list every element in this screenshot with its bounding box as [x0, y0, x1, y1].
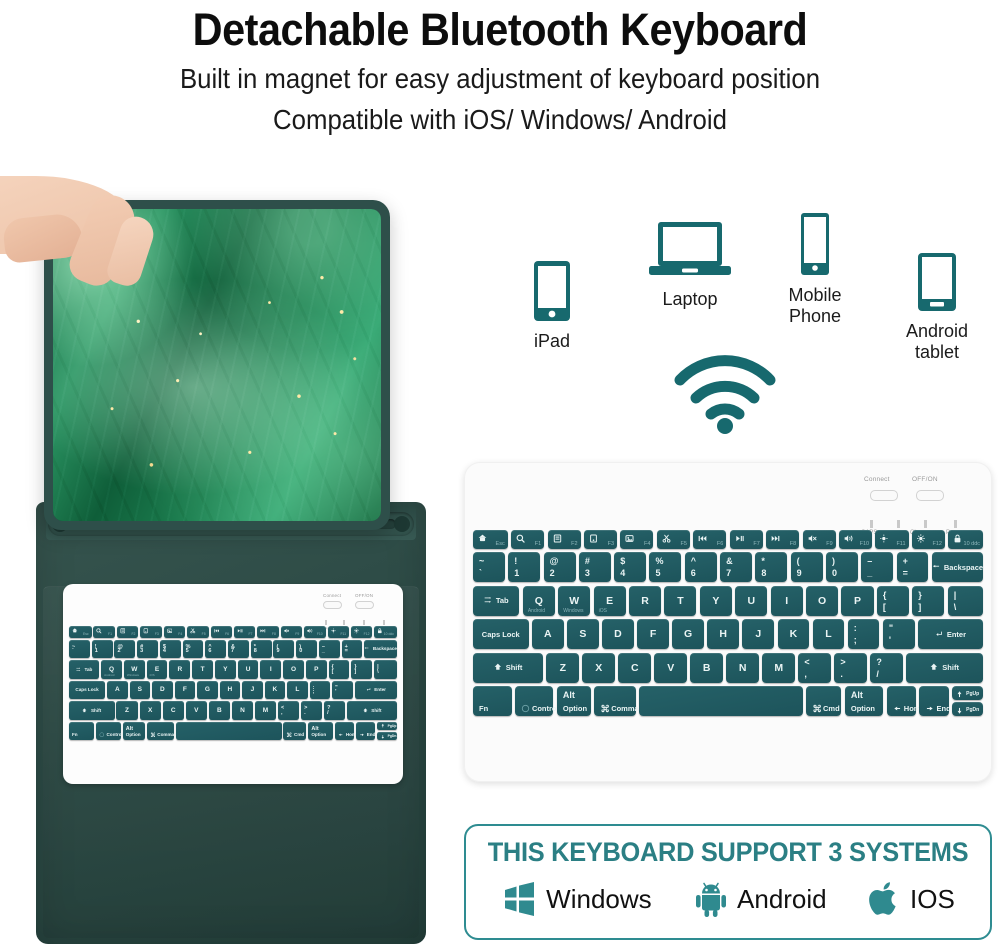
key-inner: Caps Lock: [482, 630, 520, 639]
key-c[interactable]: C: [618, 653, 651, 683]
key-control[interactable]: Control: [96, 722, 121, 741]
command-icon: [812, 704, 821, 713]
key-f10[interactable]: F10: [304, 626, 326, 638]
key-bottom: Cmd: [812, 704, 840, 713]
key-0[interactable]: )0: [296, 640, 317, 659]
key-lower: 3: [585, 568, 590, 578]
key-upper: @: [550, 556, 559, 566]
key-2[interactable]: @2: [544, 552, 576, 582]
key-bottom: Option: [126, 732, 141, 737]
fn-label: F5: [202, 632, 206, 636]
key-f6[interactable]: F6: [211, 626, 233, 638]
key-letter: H: [228, 686, 233, 693]
key-pgdn[interactable]: PgDn: [952, 702, 983, 716]
key-word: Control: [532, 704, 559, 713]
key-tab[interactable]: Tab: [473, 586, 519, 616]
key-o[interactable]: O: [283, 660, 304, 679]
key-inner: Shift: [363, 708, 382, 714]
command-icon: [286, 732, 292, 738]
tab-icon: [76, 667, 82, 673]
power-switch[interactable]: [916, 490, 944, 501]
key-pgup[interactable]: PgUp: [377, 722, 397, 730]
key-pgup[interactable]: PgUp: [952, 686, 983, 700]
key-sublabel: Windows: [127, 673, 139, 677]
kb-small-connect-label: Connect: [323, 593, 341, 598]
key-3[interactable]: #3: [579, 552, 611, 582]
key-letter: F: [183, 686, 187, 693]
key-h[interactable]: H: [220, 681, 241, 700]
key-lower: 4: [620, 568, 625, 578]
key-word: Option: [563, 704, 587, 713]
subtitle-line-2: Compatible with iOS/ Windows/ Android: [40, 99, 960, 140]
key-word: Enter: [947, 630, 966, 639]
system-label-android: Android: [737, 884, 827, 915]
systems-list: Windows Android: [480, 880, 976, 918]
key-option[interactable]: AltOption: [123, 722, 145, 741]
key-upper: <: [804, 657, 809, 667]
key-backtick[interactable]: ~`: [69, 640, 90, 659]
key-backspace[interactable]: Backspace: [932, 552, 983, 582]
key-f11[interactable]: F11: [328, 626, 350, 638]
key-upper: #: [585, 556, 590, 566]
key-f4[interactable]: F4: [164, 626, 186, 638]
key-u[interactable]: U: [238, 660, 259, 679]
key-f12[interactable]: F12: [351, 626, 373, 638]
key-a[interactable]: A: [107, 681, 128, 700]
key-letter: F: [650, 628, 656, 640]
key-lower: 8: [254, 648, 257, 654]
key-upper: ": [889, 623, 893, 633]
key-f6[interactable]: F6: [693, 530, 726, 549]
key-letter: S: [138, 686, 142, 693]
key-f8[interactable]: F8: [257, 626, 279, 638]
hand-holding-tablet: [0, 176, 198, 302]
key-inner: Tab: [76, 667, 92, 673]
key-f3[interactable]: F3: [584, 530, 617, 549]
key-lower: ': [889, 635, 891, 645]
home-icon: [478, 534, 487, 543]
key-1[interactable]: !1: [92, 640, 113, 659]
key-pgdn[interactable]: PgDn: [377, 732, 397, 740]
key-letter: D: [160, 686, 165, 693]
key-k[interactable]: K: [778, 619, 810, 649]
key-upper: !: [514, 556, 517, 566]
led-power: [954, 520, 957, 528]
key-2[interactable]: @2: [114, 640, 135, 659]
key-z[interactable]: Z: [546, 653, 579, 683]
key-caps-lock[interactable]: Caps Lock: [473, 619, 529, 649]
key-10 ddc[interactable]: 10 ddc: [948, 530, 983, 549]
fn-label: F10: [860, 541, 869, 547]
key-upper: +: [903, 556, 908, 566]
key-.[interactable]: >.: [301, 701, 322, 720]
key-bottom: Option: [851, 704, 875, 713]
led-charge: [924, 520, 927, 528]
key-6[interactable]: ^6: [205, 640, 226, 659]
key-5[interactable]: %5: [649, 552, 681, 582]
key-row-bottom: ShiftZXCVBNM<,>.?/Shift: [473, 653, 983, 683]
search-icon: [96, 628, 102, 634]
key-end[interactable]: End: [919, 686, 948, 716]
key-s[interactable]: S: [567, 619, 599, 649]
key-y[interactable]: Y: [215, 660, 236, 679]
key-f1[interactable]: F1: [511, 530, 544, 549]
key-inner: Backspace: [932, 563, 983, 572]
brightness-down-icon: [880, 534, 889, 543]
fn-label: F1: [535, 541, 541, 547]
key-4[interactable]: $4: [160, 640, 181, 659]
key-q[interactable]: QAndroid: [101, 660, 122, 679]
key-word: End: [936, 704, 950, 713]
key-f[interactable]: F: [637, 619, 669, 649]
shift-arrow-icon: [82, 708, 88, 714]
key-letter: P: [314, 666, 318, 673]
key-f7[interactable]: F7: [234, 626, 256, 638]
key-letter: M: [774, 662, 783, 674]
kb-small-connect-button[interactable]: [323, 601, 342, 609]
key-word: Caps Lock: [482, 630, 520, 639]
key-lower: 5: [655, 568, 660, 578]
key-upper: ): [832, 556, 835, 566]
key-7[interactable]: &7: [228, 640, 249, 659]
key-end[interactable]: End: [356, 722, 375, 741]
key-f1[interactable]: F1: [93, 626, 115, 638]
key-inner: Backspace: [364, 646, 397, 652]
key-f[interactable]: F: [175, 681, 196, 700]
key-sublabel: iOS: [150, 673, 155, 677]
key-[[interactable]: {[: [329, 660, 350, 679]
key-lower: _: [322, 648, 325, 654]
key-f4[interactable]: F4: [620, 530, 653, 549]
key-inner: Enter: [935, 630, 966, 639]
key-\[interactable]: |\: [374, 660, 397, 679]
key-u[interactable]: U: [735, 586, 767, 616]
key-inner: Tab: [484, 596, 509, 605]
key-][interactable]: }]: [351, 660, 372, 679]
fn-label: Esc: [496, 541, 505, 547]
key-letter: T: [201, 666, 205, 673]
key-k[interactable]: K: [265, 681, 286, 700]
key-f10[interactable]: F10: [839, 530, 872, 549]
key-upper: Alt: [311, 726, 318, 732]
key-letter: U: [747, 595, 755, 607]
led-charge: [363, 620, 365, 625]
fn-label: F6: [225, 632, 229, 636]
key-6[interactable]: ^6: [685, 552, 717, 582]
key-row-modifier: FnControlAltOptionCommandCmdAltOptionHom…: [69, 722, 397, 741]
key-\[interactable]: |\: [948, 586, 983, 616]
key-shift[interactable]: Shift: [347, 701, 397, 720]
key-r[interactable]: R: [629, 586, 661, 616]
key-upper: $: [620, 556, 625, 566]
key-upper: %: [655, 556, 663, 566]
photo-icon: [625, 534, 634, 543]
key-f8[interactable]: F8: [766, 530, 799, 549]
key-.[interactable]: >.: [834, 653, 867, 683]
key-=[interactable]: +=: [897, 552, 929, 582]
fn-label: F6: [717, 541, 723, 547]
key-upper: ^: [691, 556, 696, 566]
key-v[interactable]: V: [654, 653, 687, 683]
fn-label: F8: [272, 632, 276, 636]
key-upper: Alt: [126, 726, 133, 732]
key-l[interactable]: L: [287, 681, 308, 700]
key-d[interactable]: D: [602, 619, 634, 649]
key-c[interactable]: C: [163, 701, 184, 720]
key-0[interactable]: )0: [826, 552, 858, 582]
key-bottom: Option: [563, 704, 587, 713]
arrow-left-icon: [338, 732, 344, 738]
key-p[interactable]: P: [841, 586, 873, 616]
fn-label: F7: [248, 632, 252, 636]
key-f9[interactable]: F9: [803, 530, 836, 549]
key-t[interactable]: T: [192, 660, 213, 679]
kb-small-controls: Connect OFF/ON: [319, 591, 395, 621]
key-f7[interactable]: F7: [730, 530, 763, 549]
key-word: Shift: [371, 708, 381, 713]
system-android: Android: [694, 881, 827, 917]
key-lower: /: [327, 710, 329, 716]
key-i[interactable]: I: [260, 660, 281, 679]
key-f2[interactable]: F2: [117, 626, 139, 638]
key-j[interactable]: J: [242, 681, 263, 700]
key-'[interactable]: "': [883, 619, 915, 649]
key-e[interactable]: EiOS: [147, 660, 168, 679]
key-w[interactable]: WWindows: [558, 586, 590, 616]
key-g[interactable]: G: [197, 681, 218, 700]
brightness-down-icon: [331, 628, 337, 634]
key-;[interactable]: :;: [310, 681, 331, 700]
key-lower: /: [876, 669, 879, 679]
key-cmd[interactable]: Cmd: [806, 686, 841, 716]
key-fn[interactable]: Fn: [69, 722, 94, 741]
key-y[interactable]: Y: [700, 586, 732, 616]
key-cmd[interactable]: Cmd: [283, 722, 306, 741]
key-shift[interactable]: Shift: [69, 701, 115, 720]
key-esc[interactable]: Esc: [69, 626, 92, 638]
key-upper: Alt: [851, 690, 863, 700]
key-word: Backspace: [944, 563, 983, 572]
key-letter: Z: [560, 662, 566, 674]
key-esc[interactable]: Esc: [473, 530, 508, 549]
key-f3[interactable]: F3: [140, 626, 162, 638]
key-tab[interactable]: Tab: [69, 660, 99, 679]
key-lower: 9: [797, 568, 802, 578]
key-f5[interactable]: F5: [187, 626, 209, 638]
key-control[interactable]: Control: [515, 686, 554, 716]
key-f2[interactable]: F2: [548, 530, 581, 549]
shift-arrow-icon: [930, 663, 939, 672]
key-bottom: End: [359, 732, 375, 738]
key-backspace[interactable]: Backspace: [364, 640, 397, 659]
key-/[interactable]: ?/: [870, 653, 903, 683]
key-fn[interactable]: Fn: [473, 686, 512, 716]
key-lower: .: [840, 669, 843, 679]
fn-label: Esc: [83, 632, 89, 636]
key-lower: 4: [163, 648, 166, 654]
key-o[interactable]: O: [806, 586, 838, 616]
key-word: Shift: [506, 663, 523, 672]
key-a[interactable]: A: [532, 619, 564, 649]
key-letter: D: [614, 628, 622, 640]
spacebar[interactable]: [639, 686, 802, 716]
key-g[interactable]: G: [672, 619, 704, 649]
key-enter[interactable]: Enter: [918, 619, 983, 649]
key-f11[interactable]: F11: [875, 530, 908, 549]
key-w[interactable]: WWindows: [124, 660, 145, 679]
key-][interactable]: }]: [912, 586, 944, 616]
key-caps-lock[interactable]: Caps Lock: [69, 681, 105, 700]
system-label-ios: IOS: [910, 884, 955, 915]
key-shift[interactable]: Shift: [473, 653, 543, 683]
key-word: Tab: [84, 667, 92, 672]
lock-icon: [377, 628, 383, 634]
key-lower: [: [332, 669, 334, 675]
key-upper: (: [797, 556, 800, 566]
key-letter: G: [684, 628, 692, 640]
key-x[interactable]: X: [140, 701, 161, 720]
key-,[interactable]: <,: [278, 701, 299, 720]
key-f9[interactable]: F9: [281, 626, 303, 638]
photo-icon: [167, 628, 173, 634]
key-_[interactable]: –_: [319, 640, 340, 659]
key-t[interactable]: T: [664, 586, 696, 616]
key-word: Caps Lock: [75, 687, 98, 692]
key-bottom: End: [925, 704, 950, 713]
key-3[interactable]: #3: [137, 640, 158, 659]
command-icon: [150, 732, 156, 738]
key-h[interactable]: H: [707, 619, 739, 649]
key-10 ddc[interactable]: 10 ddc: [374, 626, 397, 638]
key-lower: ,: [804, 669, 807, 679]
key-m[interactable]: M: [762, 653, 795, 683]
key-j[interactable]: J: [742, 619, 774, 649]
fn-label: F8: [790, 541, 796, 547]
key-word: Fn: [72, 732, 78, 737]
key-letter: X: [595, 662, 602, 674]
key-letter: Z: [125, 707, 129, 714]
key-word: Control: [106, 732, 122, 737]
page-title: Detachable Bluetooth Keyboard: [40, 2, 960, 58]
key-letter: R: [177, 666, 182, 673]
key-backtick[interactable]: ~`: [473, 552, 505, 582]
fn-label: F2: [131, 632, 135, 636]
key-option[interactable]: AltOption: [845, 686, 884, 716]
key-n[interactable]: N: [232, 701, 253, 720]
kb-small-power-switch[interactable]: [355, 601, 374, 609]
key-8[interactable]: *8: [755, 552, 787, 582]
key-e[interactable]: EiOS: [594, 586, 626, 616]
kb-small-power-label: OFF/ON: [355, 593, 373, 598]
key-/[interactable]: ?/: [324, 701, 345, 720]
next-track-icon: [771, 534, 780, 543]
android-logo-icon: [694, 881, 728, 917]
key-home[interactable]: Home: [887, 686, 916, 716]
key-command[interactable]: Command: [147, 722, 174, 741]
system-label-windows: Windows: [546, 884, 651, 915]
key-letter: L: [825, 628, 831, 640]
key-4[interactable]: $4: [614, 552, 646, 582]
key-;[interactable]: :;: [848, 619, 880, 649]
arrow-down-icon: [955, 706, 964, 715]
bluetooth-keyboard: Connect OFF/ON CAPS ☁ Charge Power EscF1…: [464, 462, 992, 782]
key-8[interactable]: *8: [251, 640, 272, 659]
key-letter: G: [205, 686, 210, 693]
key-letter: I: [785, 595, 788, 607]
key-q[interactable]: QAndroid: [523, 586, 555, 616]
key-,[interactable]: <,: [798, 653, 831, 683]
connect-button[interactable]: [870, 490, 898, 501]
key-d[interactable]: D: [152, 681, 173, 700]
key-option[interactable]: AltOption: [557, 686, 591, 716]
led-power: [383, 620, 385, 625]
key-5[interactable]: %5: [183, 640, 204, 659]
key-row-number: ~`!1@2#3$4%5^6&7*8(9)0–_+=Backspace: [69, 640, 397, 659]
key-f5[interactable]: F5: [657, 530, 690, 549]
key-inner: Shift: [82, 708, 101, 714]
key-command[interactable]: Command: [594, 686, 636, 716]
key-7[interactable]: &7: [720, 552, 752, 582]
key-_[interactable]: –_: [861, 552, 893, 582]
key-shift[interactable]: Shift: [906, 653, 983, 683]
arrow-right-icon: [359, 732, 365, 738]
led-caps: [325, 620, 327, 625]
key-lower: ,: [281, 710, 283, 716]
device-label-laptop: Laptop: [630, 289, 750, 310]
key-m[interactable]: M: [255, 701, 276, 720]
key-=[interactable]: +=: [342, 640, 363, 659]
key-word: PgUp: [388, 724, 397, 728]
key-s[interactable]: S: [130, 681, 151, 700]
key-r[interactable]: R: [169, 660, 190, 679]
key-option[interactable]: AltOption: [308, 722, 333, 741]
key-b[interactable]: B: [209, 701, 230, 720]
key-i[interactable]: I: [771, 586, 803, 616]
key-letter: S: [579, 628, 586, 640]
key-enter[interactable]: Enter: [355, 681, 397, 700]
subtitle-line-1: Built in magnet for easy adjustment of k…: [40, 58, 960, 99]
key-n[interactable]: N: [726, 653, 759, 683]
wifi-icon: [670, 350, 780, 434]
key-[[interactable]: {[: [877, 586, 909, 616]
key-1[interactable]: !1: [508, 552, 540, 582]
key-upper: {: [883, 590, 887, 600]
prev-track-icon: [698, 534, 707, 543]
key-9[interactable]: (9: [273, 640, 294, 659]
key-lower: 8: [761, 568, 766, 578]
key-letter: W: [569, 595, 579, 607]
key-home[interactable]: Home: [335, 722, 354, 741]
key-z[interactable]: Z: [116, 701, 137, 720]
key-p[interactable]: P: [306, 660, 327, 679]
key-'[interactable]: "': [332, 681, 353, 700]
key-upper: *: [761, 556, 765, 566]
key-letter: Y: [223, 666, 227, 673]
key-9[interactable]: (9: [791, 552, 823, 582]
key-l[interactable]: L: [813, 619, 845, 649]
key-letter: M: [263, 707, 268, 714]
windows-logo-icon: [501, 881, 537, 917]
spacebar[interactable]: [176, 722, 282, 741]
key-x[interactable]: X: [582, 653, 615, 683]
laptop-icon: [648, 220, 732, 280]
key-v[interactable]: V: [186, 701, 207, 720]
key-b[interactable]: B: [690, 653, 723, 683]
key-letter: U: [246, 666, 251, 673]
key-lower: 1: [95, 648, 98, 654]
brightness-up-icon: [917, 534, 926, 543]
key-f12[interactable]: F12: [912, 530, 945, 549]
